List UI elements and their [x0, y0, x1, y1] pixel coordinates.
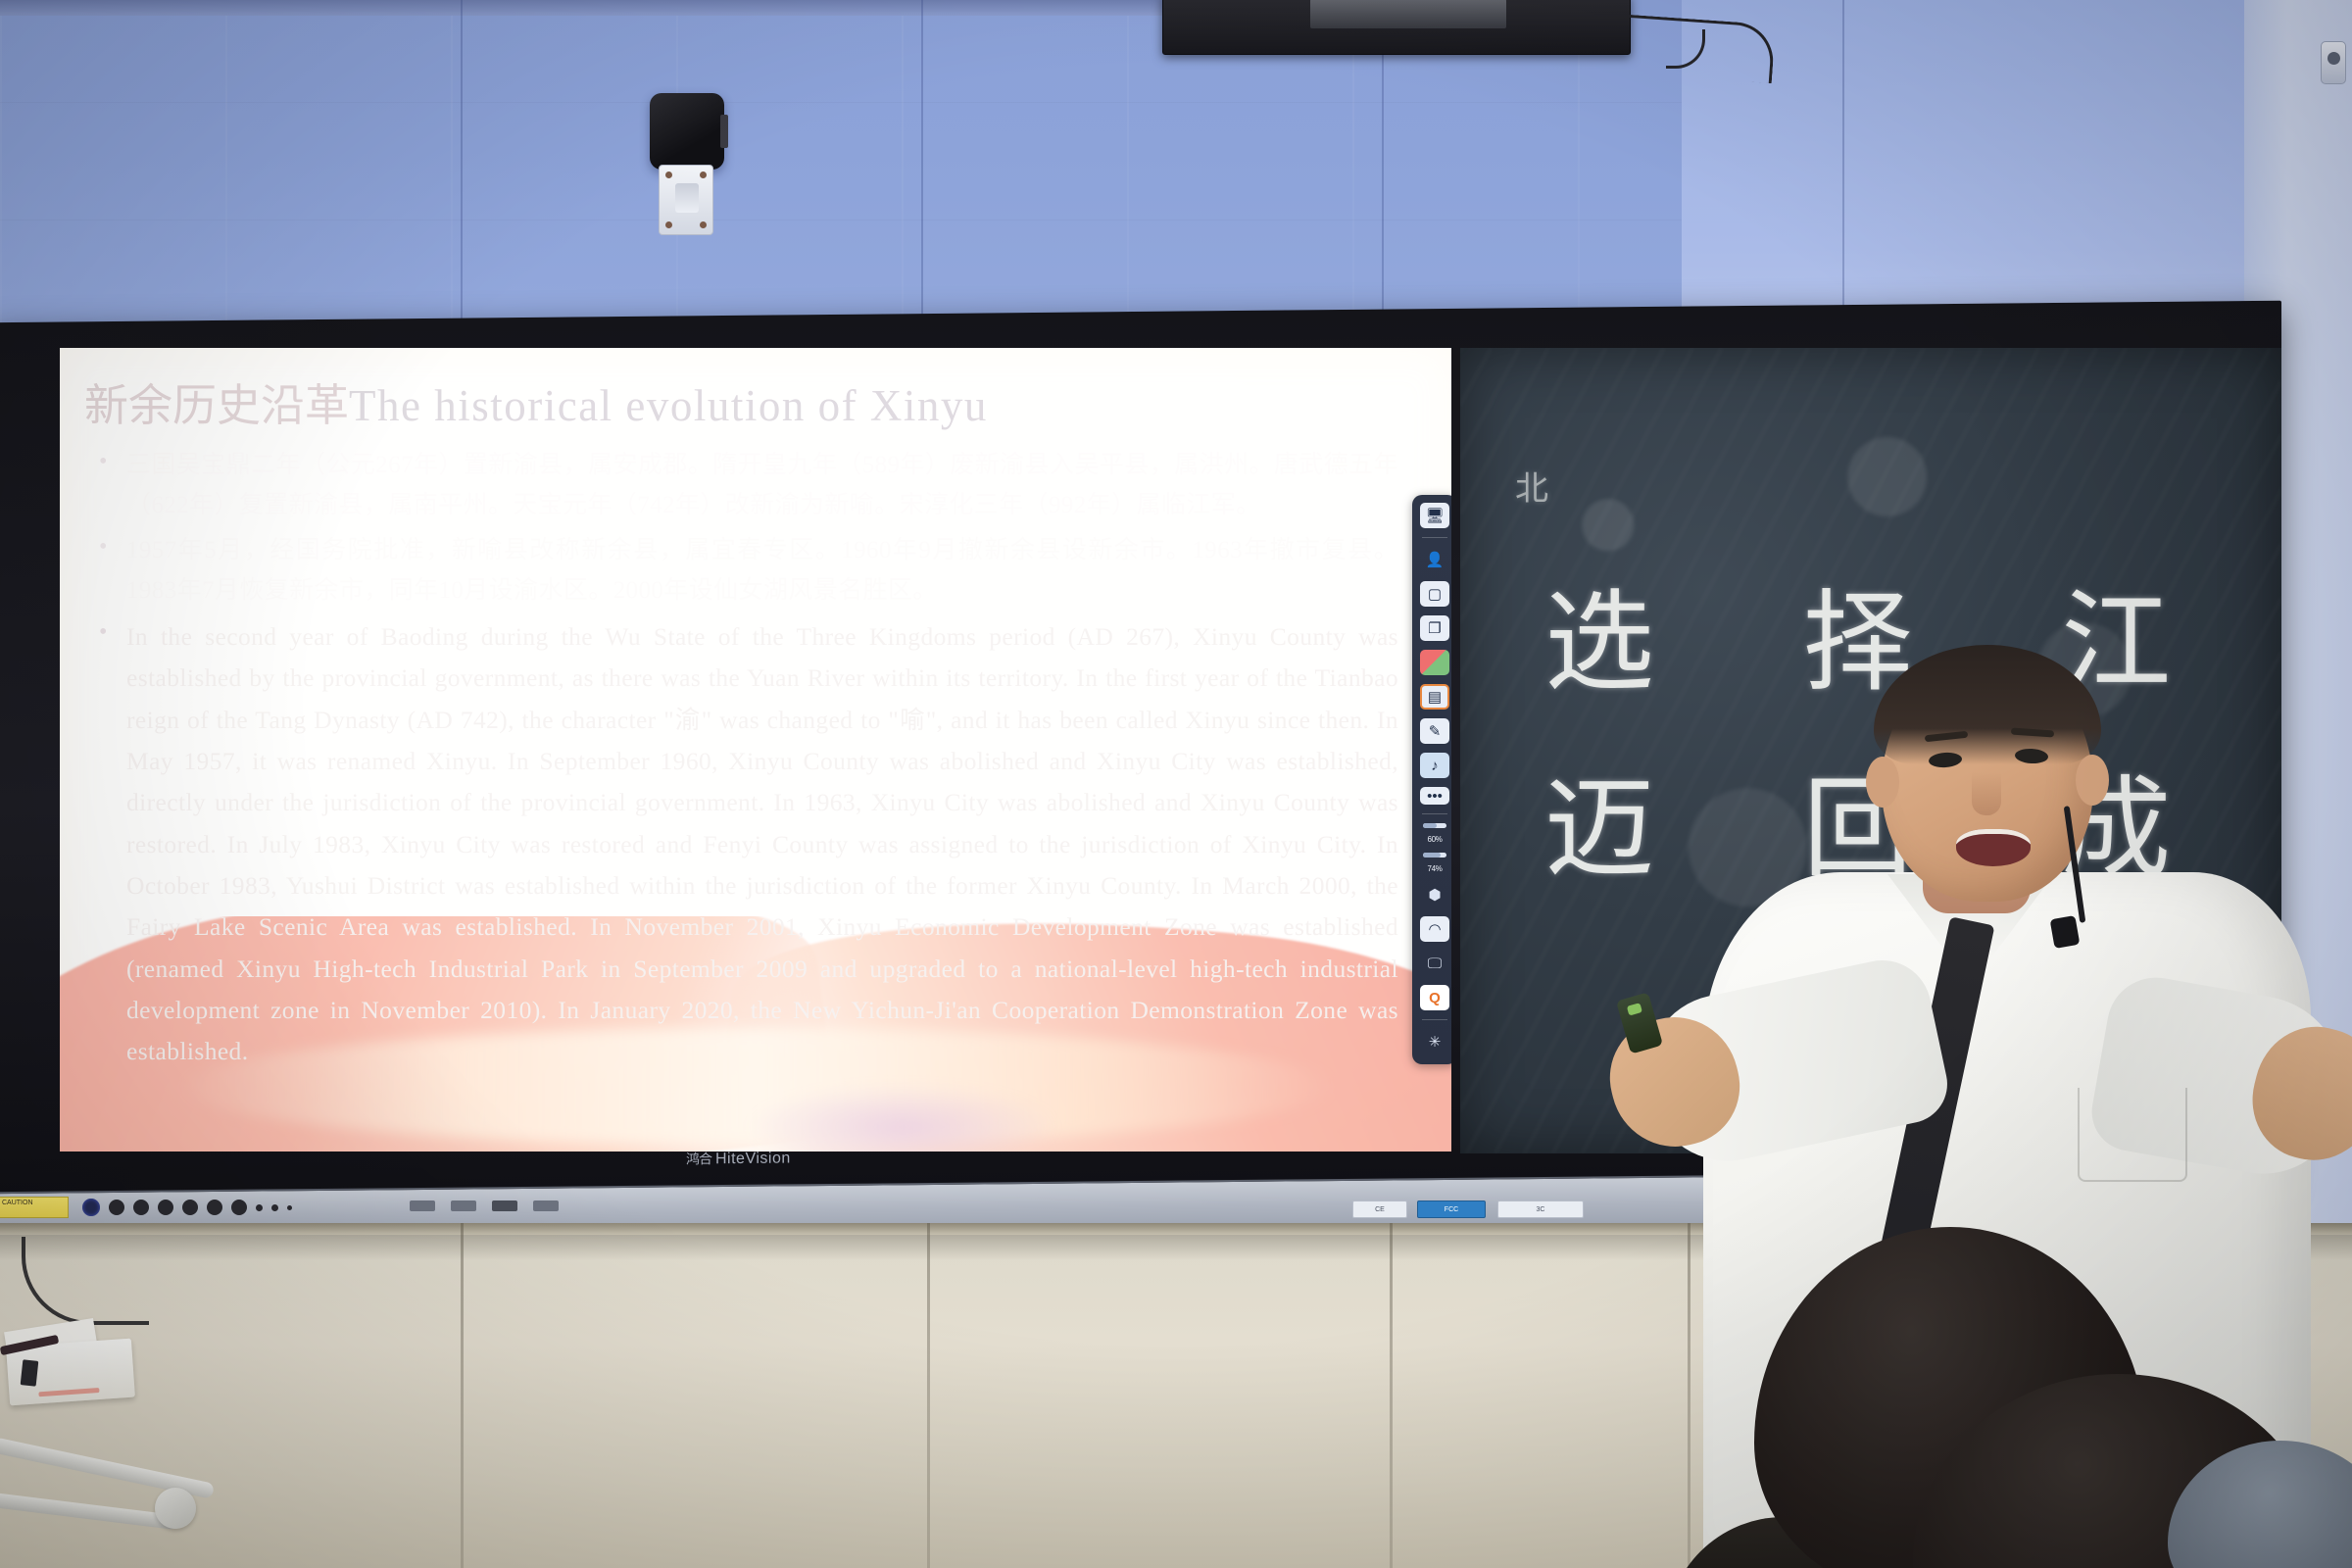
vga-port[interactable]: [533, 1200, 559, 1211]
ceiling-projector-unit: [1162, 0, 1631, 55]
documents-icon[interactable]: ❐: [1420, 615, 1449, 641]
slide-bullet-cn-2: 1957年5月，经国务院批准，新喻县改称新余县，属宜春专区。1960年9月撤新余…: [85, 531, 1398, 611]
slide-title: 新余历史沿革The historical evolution of Xinyu: [84, 369, 988, 433]
wainscot-seam: [1390, 1223, 1393, 1568]
search-icon[interactable]: Q: [1420, 985, 1449, 1010]
wainscot-seam: [461, 1223, 464, 1568]
status-led: [287, 1205, 292, 1210]
certification-sticker: CE: [1352, 1200, 1407, 1218]
brand-mark: 鸿合: [686, 1151, 711, 1166]
teacher-hair: [1874, 645, 2101, 764]
mount-screw: [700, 221, 707, 228]
brand-logo: 鸿合HiteVision: [686, 1148, 791, 1168]
slide-title-en: The historical evolution of Xinyu: [349, 381, 988, 430]
signal-icon[interactable]: ◠: [1420, 916, 1449, 942]
usb-port[interactable]: [451, 1200, 476, 1211]
wall-seam: [921, 0, 923, 338]
ceiling-edge: [0, 0, 1166, 16]
control-button[interactable]: [109, 1200, 124, 1215]
teacher-ear: [2076, 755, 2109, 806]
marker: [21, 1359, 39, 1387]
classroom-scene: 新余历史沿革The historical evolution of Xinyu …: [0, 0, 2352, 1568]
camera-mount-bracket: [659, 165, 713, 235]
smartboard-toolbar[interactable]: 🖥 👤 ▢ ❐ ▤ ✎ ♪ ••• 60% 74% ⬢ ◠: [1412, 495, 1451, 1064]
notebook-red-mark: [38, 1388, 99, 1396]
toolbar-divider: [1422, 813, 1447, 814]
slide-title-cn: 新余历史沿革: [84, 381, 349, 430]
brightness-slider[interactable]: [1423, 853, 1446, 857]
window-icon[interactable]: ▢: [1420, 581, 1449, 607]
mount-screw: [700, 171, 707, 178]
io-port-group[interactable]: [410, 1200, 559, 1211]
brightness-value: 74%: [1427, 864, 1442, 873]
wall-camera-icon: [650, 93, 724, 170]
camera-clamp: [675, 183, 699, 213]
hdmi-port[interactable]: [492, 1200, 517, 1211]
microphone-icon: [2050, 915, 2081, 949]
toolbar-divider: [1422, 537, 1447, 538]
control-button[interactable]: [231, 1200, 247, 1215]
volume-value: 60%: [1427, 835, 1442, 844]
slide-body: 三国吴宝鼎二年（公元267年）置新渝县，属安成郡。隋开皇九年（589年）废新渝县…: [85, 446, 1398, 1079]
gear-icon[interactable]: ✳: [1420, 1029, 1449, 1054]
note-icon[interactable]: ✎: [1420, 718, 1449, 744]
certification-sticker: FCC: [1417, 1200, 1486, 1218]
control-button[interactable]: [158, 1200, 173, 1215]
toolbar-divider: [1422, 1019, 1447, 1020]
control-button[interactable]: [133, 1200, 149, 1215]
brand-name: HiteVision: [715, 1150, 791, 1167]
settings-icon[interactable]: ⬢: [1420, 882, 1449, 907]
display-icon[interactable]: 🖥: [1420, 503, 1449, 528]
wall-seam: [1842, 0, 1844, 338]
caution-label: CAUTION: [0, 1197, 69, 1218]
control-button[interactable]: [182, 1200, 198, 1215]
smartboard-control-panel[interactable]: [82, 1195, 376, 1220]
wall-seam: [461, 0, 463, 338]
user-icon[interactable]: 👤: [1420, 547, 1449, 572]
projector-lens-pane: [1310, 0, 1506, 28]
chalkboard-small-note: 北: [1515, 462, 1558, 510]
control-button[interactable]: [207, 1200, 222, 1215]
media-icon[interactable]: ♪: [1420, 753, 1449, 778]
screen-icon[interactable]: 🖵: [1420, 951, 1449, 976]
wainscot-seam: [927, 1223, 930, 1568]
status-led: [271, 1204, 278, 1211]
slide-bullet-en-1: In the second year of Baoding during the…: [85, 616, 1398, 1073]
mount-screw: [665, 221, 672, 228]
more-options-icon[interactable]: •••: [1420, 787, 1449, 805]
calendar-icon[interactable]: [1420, 650, 1449, 675]
status-led: [256, 1204, 263, 1211]
teacher-ear: [1866, 757, 1899, 808]
teacher-mouth: [1956, 829, 2031, 866]
wall-sensor: [2321, 41, 2346, 84]
smartboard-screen[interactable]: 新余历史沿革The historical evolution of Xinyu …: [60, 348, 1451, 1151]
power-button[interactable]: [82, 1199, 100, 1216]
lamp-joint: [155, 1488, 196, 1529]
certification-sticker: 3C: [1497, 1200, 1584, 1218]
mount-screw: [665, 171, 672, 178]
presentation-icon[interactable]: ▤: [1420, 684, 1449, 710]
usb-port[interactable]: [410, 1200, 435, 1211]
slide-bullet-cn-1: 三国吴宝鼎二年（公元267年）置新渝县，属安成郡。隋开皇九年（589年）废新渝县…: [85, 446, 1398, 525]
volume-slider[interactable]: [1423, 823, 1446, 828]
shirt-pocket: [2078, 1088, 2187, 1182]
teacher-nose: [1972, 772, 2001, 815]
